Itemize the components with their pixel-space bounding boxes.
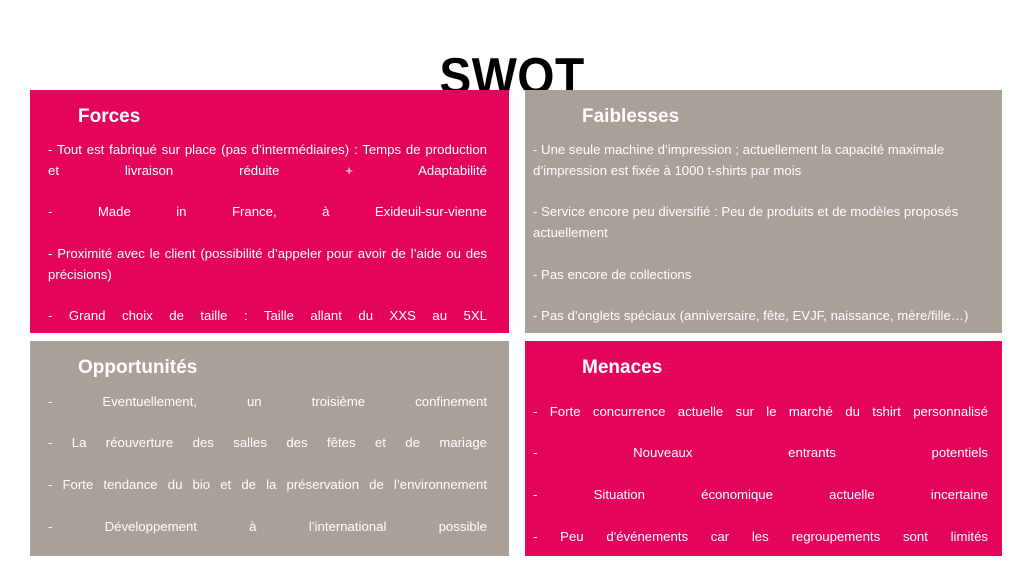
quadrant-forces-heading: Forces	[30, 90, 509, 129]
list-item: - Forte tendance du bio et de la préserv…	[48, 475, 487, 517]
list-item: - Proximité avec le client (possibilité …	[48, 244, 487, 306]
quadrant-forces-list: - Tout est fabriqué sur place (pas d’int…	[30, 129, 509, 333]
quadrant-menaces-list: - Forte concurrence actuelle sur le marc…	[525, 380, 1002, 556]
list-item: - Eventuellement, un troisième confineme…	[48, 392, 487, 434]
list-item: - Peu d'événements car les regroupements…	[533, 527, 988, 556]
list-item: - Nouveaux entrants potentiels	[533, 443, 988, 485]
list-item: - Pas encore de collections	[533, 265, 988, 307]
quadrant-menaces: Menaces - Forte concurrence actuelle sur…	[525, 341, 1002, 556]
list-item: - Situation économique actuelle incertai…	[533, 485, 988, 527]
quadrant-opportunites-list: - Eventuellement, un troisième confineme…	[30, 380, 509, 556]
list-item: - Développement à l’international possib…	[48, 517, 487, 556]
quadrant-faiblesses-heading: Faiblesses	[525, 90, 1002, 129]
list-item: - Forte concurrence actuelle sur le marc…	[533, 402, 988, 444]
swot-slide: SWOT Forces - Tout est fabriqué sur plac…	[0, 0, 1024, 576]
list-item: - Pas d’onglets spéciaux (anniversaire, …	[533, 306, 988, 333]
quadrant-opportunites-heading: Opportunités	[30, 341, 509, 380]
list-item: - Une seule machine d’impression ; actue…	[533, 140, 988, 202]
list-item: - Tout est fabriqué sur place (pas d’int…	[48, 140, 487, 202]
list-item: - Grand choix de taille : Taille allant …	[48, 306, 487, 333]
quadrant-menaces-heading: Menaces	[525, 341, 1002, 380]
quadrant-faiblesses: Faiblesses - Une seule machine d’impress…	[525, 90, 1002, 333]
list-item: - Made in France, à Exideuil-sur-vienne	[48, 202, 487, 244]
list-item: - La réouverture des salles des fêtes et…	[48, 433, 487, 475]
list-item: - Service encore peu diversifié : Peu de…	[533, 202, 988, 264]
quadrant-faiblesses-list: - Une seule machine d’impression ; actue…	[525, 129, 1002, 333]
quadrant-opportunites: Opportunités - Eventuellement, un troisi…	[30, 341, 509, 556]
quadrant-forces: Forces - Tout est fabriqué sur place (pa…	[30, 90, 509, 333]
